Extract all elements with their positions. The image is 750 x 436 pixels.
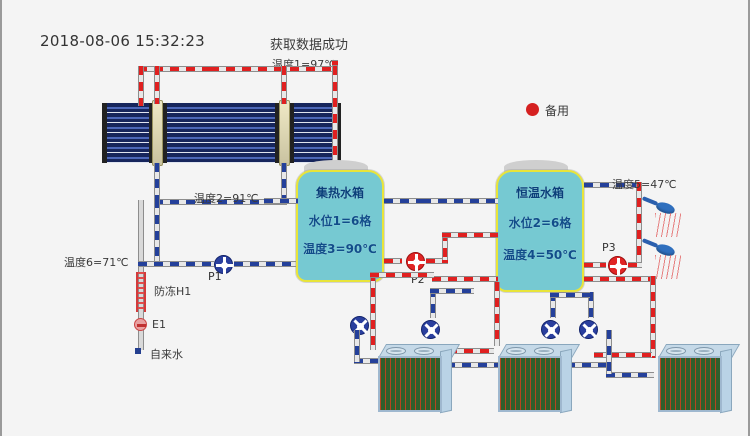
pipe-tank1-upper-in	[264, 198, 298, 204]
hp-fan-icon	[694, 347, 714, 355]
pipe-tank1-out	[384, 258, 402, 264]
standby-status-dot	[526, 103, 539, 116]
hmi-canvas: 2018-08-06 15:32:23 获取数据成功 温度1=97℃ 备用 温度…	[0, 0, 750, 436]
temp5-reading: 温度5=47℃	[612, 176, 677, 192]
pipe-p3-out	[628, 262, 642, 268]
hp-coil-face	[498, 356, 562, 412]
pipe-hp-header-right	[584, 276, 656, 282]
pipe-collector-return-drop	[154, 199, 160, 261]
pipe-feed-to-p1	[138, 261, 214, 267]
solar-collector-panel-1	[102, 103, 154, 163]
pipe-down-to-tank1	[332, 66, 338, 166]
pipe-hp-valve-23-link	[550, 292, 590, 298]
tank1-temp: 温度3=90℃	[298, 240, 382, 257]
pump-hub	[221, 262, 228, 269]
tank1-title: 集热水箱	[298, 184, 382, 201]
pipe-hp-branch-1-top	[370, 272, 434, 278]
pipe-hp-header-mid	[432, 276, 498, 282]
pipe-hp-return-right	[606, 372, 654, 378]
pipe-hp-branch-1	[370, 272, 376, 350]
tank2-temp: 温度4=50℃	[498, 246, 582, 263]
pipe-hp-return-riser-1	[354, 330, 360, 362]
tapwater-label: 自来水	[150, 346, 183, 362]
pipe-hp-return-riser-4	[606, 330, 612, 374]
standby-label: 备用	[545, 102, 569, 119]
valve-hub	[548, 327, 555, 334]
pipe-riser-1	[138, 66, 144, 106]
pipe-collector-top-right	[210, 66, 338, 72]
pipe-tank1-tank2-upper	[422, 198, 498, 204]
pump-p3[interactable]	[608, 256, 627, 275]
hp-fan-icon	[414, 347, 434, 355]
antifreeze-label: 防冻H1	[154, 283, 191, 299]
status-message-label: 获取数据成功	[270, 34, 348, 53]
pump-hub	[615, 263, 622, 270]
pipe-riser-2	[154, 66, 160, 104]
pipe-p1-to-tank1	[234, 261, 296, 267]
collector-header-1	[152, 100, 163, 166]
heat-pump-unit-2	[490, 342, 582, 416]
shower-spray	[655, 255, 681, 279]
e1-label: E1	[152, 318, 166, 331]
tank2-level: 水位2=6格	[498, 214, 582, 231]
valve-fan-2[interactable]	[421, 320, 440, 339]
pipe-hp-branch-2	[494, 282, 500, 346]
heat-pump-unit-1	[370, 342, 462, 416]
solar-collector-panel-2	[162, 103, 280, 163]
valve-fan-3[interactable]	[541, 320, 560, 339]
temp6-reading: 温度6=71℃	[64, 254, 129, 270]
hp-fan-icon	[506, 347, 526, 355]
tank-constant-temp: 恒温水箱 水位2=6格 温度4=50℃	[496, 170, 584, 292]
pipe-shower-riser	[636, 182, 642, 268]
hp-coil-face	[378, 356, 442, 412]
collector-header-2	[279, 100, 290, 166]
pump-p1-label: P1	[208, 270, 222, 283]
pipe-tank2-to-p3	[584, 262, 606, 268]
tapwater-terminal	[135, 348, 141, 354]
valve-hub	[357, 323, 364, 330]
pipe-collector-top-left	[138, 66, 210, 72]
pump-p3-label: P3	[602, 241, 616, 254]
pump-p2[interactable]	[406, 252, 425, 271]
pipe-riser-3	[281, 66, 287, 104]
e1-valve-icon[interactable]	[134, 318, 147, 331]
hp-fan-icon	[386, 347, 406, 355]
pipe-hp-valve-1-top	[430, 288, 474, 294]
pipe-hp-supply-right	[594, 352, 652, 358]
tank1-level: 水位1=6格	[298, 212, 382, 229]
hp-fan-icon	[666, 347, 686, 355]
shower-spray	[655, 213, 681, 237]
hp-fan-icon	[534, 347, 554, 355]
tank-collector: 集热水箱 水位1=6格 温度3=90℃	[296, 170, 384, 282]
temp2-reading: 温度2=91℃	[194, 190, 259, 206]
hp-coil-face	[658, 356, 722, 412]
pipe-p2-to-tank2	[442, 232, 498, 238]
timestamp-label: 2018-08-06 15:32:23	[40, 32, 205, 50]
valve-hub	[428, 327, 435, 334]
pipe-top-corner	[332, 60, 338, 66]
pump-hub	[413, 259, 420, 266]
tank2-title: 恒温水箱	[498, 184, 582, 201]
valve-fan-4[interactable]	[579, 320, 598, 339]
heat-pump-unit-3	[650, 342, 742, 416]
valve-hub	[586, 327, 593, 334]
antifreeze-heater-h1	[136, 272, 146, 312]
pipe-tank1-upper-out	[384, 198, 422, 204]
